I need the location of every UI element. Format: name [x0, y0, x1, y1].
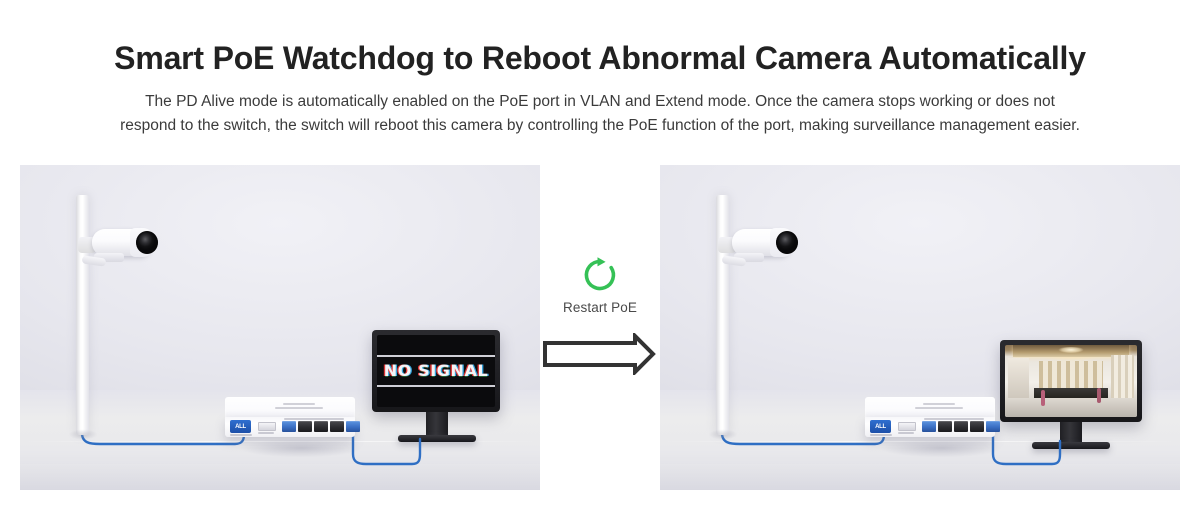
switch-port-4[interactable] [330, 421, 344, 432]
switch-top-print-2 [915, 407, 963, 409]
switch-top-print-1 [923, 403, 955, 405]
switch-drop-shadow [216, 437, 386, 459]
switch-port-1[interactable] [282, 421, 296, 432]
subtitle-line-1: The PD Alive mode is automatically enabl… [0, 90, 1200, 114]
switch-port-3[interactable] [954, 421, 968, 432]
switch-logo-text: ALL [235, 424, 246, 430]
page-subtitle: The PD Alive mode is automatically enabl… [0, 90, 1200, 137]
switch-port-group[interactable] [282, 421, 360, 432]
after-panel: ALL [660, 165, 1180, 490]
switch-top-shell [225, 397, 355, 419]
switch-mode-dipswitch[interactable] [258, 422, 276, 431]
page-title: Smart PoE Watchdog to Reboot Abnormal Ca… [0, 38, 1200, 78]
switch-brand-logo: ALL [870, 420, 891, 433]
refresh-icon-wrap [580, 255, 620, 300]
switch-model-print [230, 434, 252, 436]
switch-top-print-2 [275, 407, 323, 409]
switch-mode-label [898, 432, 914, 434]
switch-mode-label [258, 432, 274, 434]
switch-port-2[interactable] [298, 421, 312, 432]
switch-brand-logo: ALL [230, 420, 251, 433]
switch-top-shell [865, 397, 995, 419]
switch-port-5[interactable] [346, 421, 360, 432]
poe-switch: ALL [225, 397, 355, 439]
switch-logo-text: ALL [875, 424, 886, 430]
switch-front-panel: ALL [865, 417, 995, 437]
switch-port-5[interactable] [986, 421, 1000, 432]
poe-watchdog-feature-page: Smart PoE Watchdog to Reboot Abnormal Ca… [0, 0, 1200, 520]
transition-column: Restart PoE [540, 165, 660, 490]
switch-port-print [924, 418, 984, 420]
switch-port-3[interactable] [314, 421, 328, 432]
switch-model-print [870, 434, 892, 436]
switch-port-2[interactable] [938, 421, 952, 432]
switch-top-print-1 [283, 403, 315, 405]
subtitle-line-2: respond to the switch, the switch will r… [0, 114, 1200, 138]
right-arrow-icon [539, 333, 659, 380]
switch-port-4[interactable] [970, 421, 984, 432]
restart-poe-label: Restart PoE [540, 300, 660, 315]
switch-front-panel: ALL [225, 417, 355, 437]
refresh-circular-arrow-icon [580, 255, 620, 295]
switch-port-group[interactable] [922, 421, 1000, 432]
switch-mode-dipswitch[interactable] [898, 422, 916, 431]
switch-port-1[interactable] [922, 421, 936, 432]
before-panel: NO SIGNAL ALL [20, 165, 540, 490]
switch-port-print [284, 418, 344, 420]
switch-drop-shadow [856, 437, 1026, 459]
poe-switch: ALL [865, 397, 995, 439]
